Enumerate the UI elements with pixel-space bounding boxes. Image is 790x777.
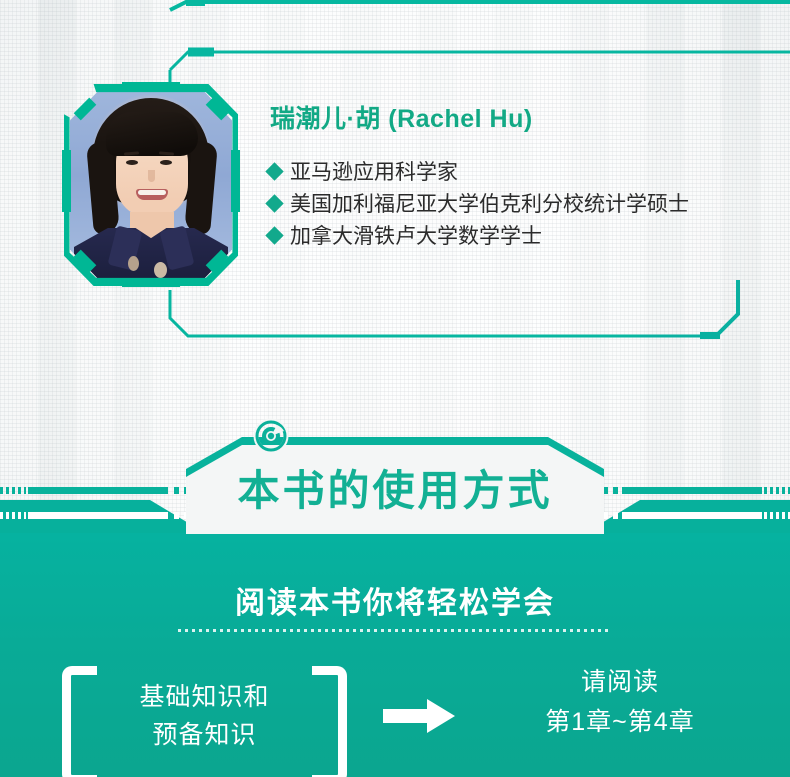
guide-left-group: 基础知识和 预备知识 [62,660,347,772]
bracket-left-icon [62,666,97,777]
teal-wing-right [585,466,790,533]
rail-dashes-right-upper [764,487,790,494]
credentials-list: 亚马逊应用科学家 美国加利福尼亚大学伯克利分校统计学硕士 加拿大滑铁卢大学数学学… [268,158,768,254]
rail-right-lower [622,512,762,519]
rachel-hu-portrait [70,90,232,280]
guide-left-line-1: 基础知识和 [139,678,269,716]
diamond-bullet-icon [265,162,283,180]
rail-dashes-right-lower [764,512,790,519]
list-item: 美国加利福尼亚大学伯克利分校统计学硕士 [268,190,768,220]
page-root: 瑞潮儿·胡 (Rachel Hu) 亚马逊应用科学家 美国加利福尼亚大学伯克利分… [0,0,790,777]
eye-right [160,160,172,165]
rail-dashes-left-upper [0,487,26,494]
section-banner: 本书的使用方式 [186,437,604,534]
nose-shape [148,170,155,182]
dotted-divider [178,629,612,632]
mouth-shape [136,189,168,200]
rail-tick-right-lower-3 [613,512,618,519]
guide-right-text: 请阅读 第1章~第4章 [470,662,770,742]
diamond-bullet-icon [265,226,283,244]
rail-right-upper [622,487,762,494]
rail-left-upper [28,487,168,494]
profile-name: 瑞潮儿·胡 (Rachel Hu) [270,99,533,135]
arrow-right-svg [383,698,455,734]
rail-left-lower [28,512,168,519]
rail-dashes-left-lower [0,512,26,519]
teal-wing-left [0,466,205,533]
target-circle-svg [253,418,289,454]
arrow-right-icon [383,698,455,734]
button-upper [128,256,139,271]
fringe-shape [106,112,198,156]
section-subtitle: 阅读本书你将轻松学会 [0,578,790,622]
bracket-right-icon [312,666,347,777]
guide-left-text: 基础知识和 预备知识 [139,678,269,754]
rail-tick-left-1 [174,487,179,494]
avatar [56,78,246,293]
octagon-tab-right [231,150,240,212]
button-lower [154,262,167,278]
guide-right-line-2: 第1章~第4章 [470,702,770,742]
octagon-tab-left [62,150,71,212]
target-circle-icon [253,418,289,454]
credential-text: 亚马逊应用科学家 [290,158,458,188]
teeth-shape [138,190,166,195]
rail-tick-left-lower-1 [174,512,179,519]
octagon-tab-bottom [122,278,180,287]
credential-text: 加拿大滑铁卢大学数学学士 [290,222,542,252]
guide-right-line-1: 请阅读 [470,662,770,702]
list-item: 加拿大滑铁卢大学数学学士 [268,222,768,252]
guide-left-line-2: 预备知识 [139,716,269,754]
rail-tick-right-3 [613,487,618,494]
octagon-tab-top [122,82,180,91]
diamond-bullet-icon [265,194,283,212]
page-title: 本书的使用方式 [186,457,604,518]
credential-text: 美国加利福尼亚大学伯克利分校统计学硕士 [290,190,689,220]
list-item: 亚马逊应用科学家 [268,158,768,188]
eye-left [126,160,138,165]
